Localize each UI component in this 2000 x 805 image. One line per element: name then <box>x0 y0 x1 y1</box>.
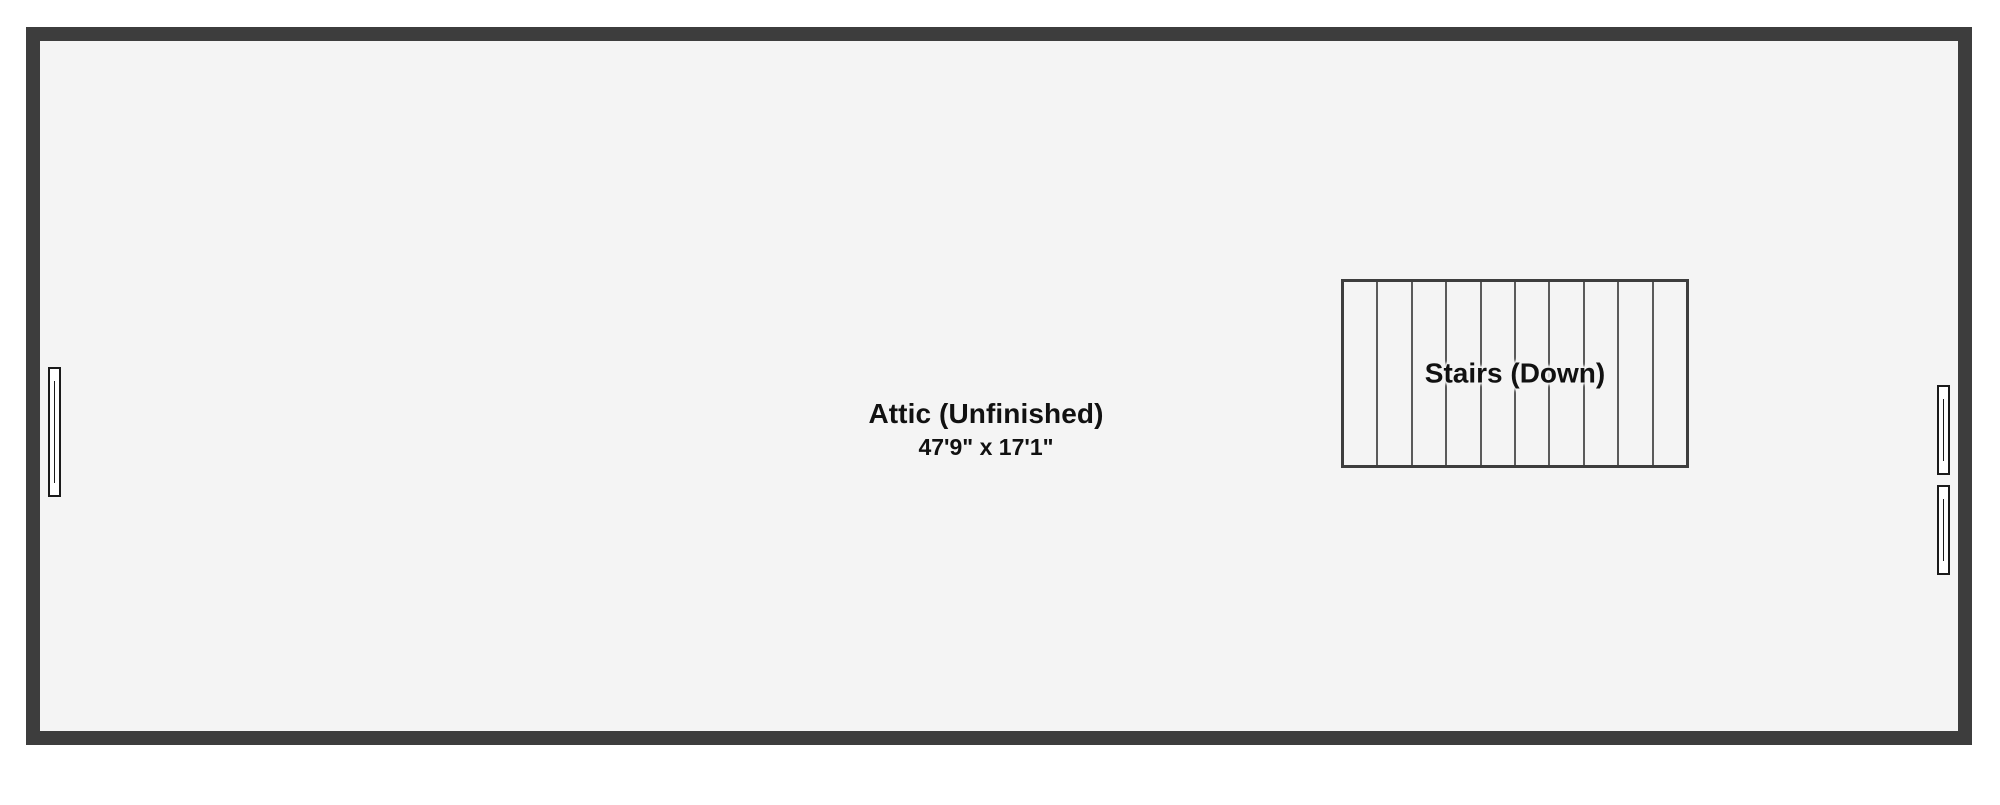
room-attic-name: Attic (Unfinished) <box>868 396 1103 431</box>
window-icon-right-wall-lower <box>1937 485 1950 575</box>
stairs-down-block: Stairs (Down) <box>1341 279 1689 468</box>
floor-area: Attic (Unfinished) 47'9" x 17'1" <box>40 41 1958 731</box>
window-icon-left-wall <box>48 367 61 497</box>
building-outline: Attic (Unfinished) 47'9" x 17'1" <box>26 27 1972 745</box>
room-attic-label-group: Attic (Unfinished) 47'9" x 17'1" <box>868 396 1103 463</box>
floor-plan-page: Attic (Unfinished) 47'9" x 17'1" <box>0 0 2000 805</box>
footer: bright ✴ MLS All dimensions are approxim… <box>0 745 2000 805</box>
stairs-down-label: Stairs (Down) <box>1344 357 1686 389</box>
room-attic-dimensions: 47'9" x 17'1" <box>868 433 1103 463</box>
window-icon-right-wall-upper <box>1937 385 1950 475</box>
